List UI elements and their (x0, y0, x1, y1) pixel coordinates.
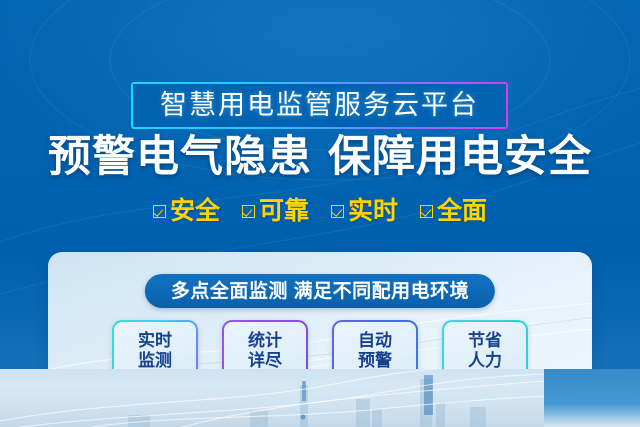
headline-left: 预警电气隐患 (48, 133, 312, 181)
checkbox-checked-icon (242, 205, 255, 218)
feature-label: 安全 (170, 199, 220, 224)
checkbox-checked-icon (420, 205, 433, 218)
feature-check-row: 安全 可靠 实时 全面 (0, 199, 640, 224)
title-badge-inner: 智慧用电监管服务云平台 (133, 84, 506, 127)
title-badge: 智慧用电监管服务云平台 (131, 82, 508, 129)
feature-item-2: 实时 (331, 199, 398, 224)
feature-item-0: 安全 (153, 199, 220, 224)
headline-right: 保障用电安全 (328, 133, 592, 181)
panel-banner: 多点全面监测 满足不同配用电环境 (145, 274, 495, 308)
checkbox-checked-icon (331, 205, 344, 218)
feature-item-1: 可靠 (242, 199, 309, 224)
feature-card-line1: 统计 (248, 331, 282, 351)
feature-card-line1: 实时 (138, 331, 172, 351)
poster-root: 智慧用电监管服务云平台 预警电气隐患保障用电安全 安全 可靠 实时 全面 (0, 0, 640, 427)
feature-label: 实时 (348, 199, 398, 224)
feature-label: 可靠 (259, 199, 309, 224)
title-badge-text: 智慧用电监管服务云平台 (160, 92, 479, 119)
page-title: 预警电气隐患保障用电安全 (0, 136, 640, 179)
city-skyline-decoration (0, 369, 640, 427)
panel-banner-text: 多点全面监测 满足不同配用电环境 (171, 282, 469, 301)
city-right-panel (544, 369, 640, 427)
feature-card-line1: 节省 (468, 331, 502, 351)
feature-item-3: 全面 (420, 199, 487, 224)
feature-card-line1: 自动 (358, 331, 392, 351)
feature-label: 全面 (437, 199, 487, 224)
checkbox-checked-icon (153, 205, 166, 218)
